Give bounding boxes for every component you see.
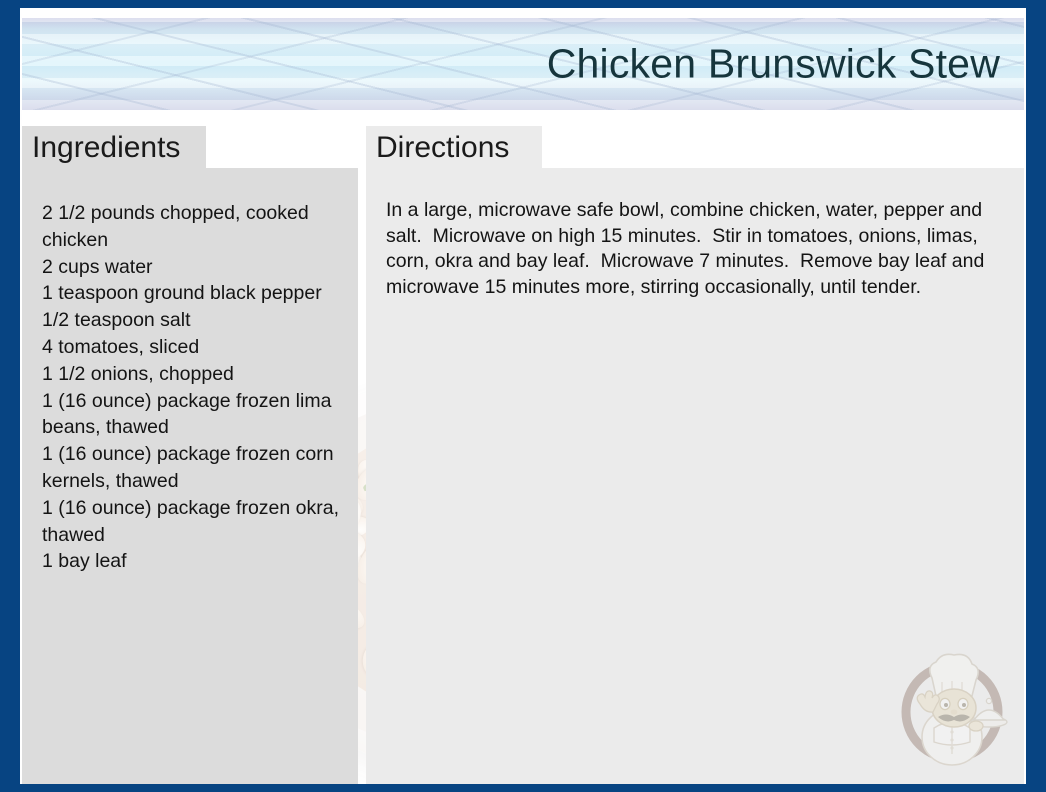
directions-heading: Directions <box>376 131 509 165</box>
ingredient-item: 1/2 teaspoon salt <box>42 307 362 334</box>
ingredient-item: 1 bay leaf <box>42 548 362 575</box>
ingredient-item: 1 (16 ounce) package frozen lima beans, … <box>42 388 362 442</box>
ingredients-heading: Ingredients <box>32 131 180 165</box>
recipe-card: Chicken Brunswick Stew Ingredients Direc… <box>0 0 1046 792</box>
ingredient-item: 1 (16 ounce) package frozen corn kernels… <box>42 441 362 495</box>
ingredients-section-tab: Ingredients <box>22 126 206 170</box>
ingredient-item: 1 (16 ounce) package frozen okra, thawed <box>42 495 362 549</box>
ingredients-list: 2 1/2 pounds chopped, cooked chicken2 cu… <box>42 200 362 575</box>
ingredient-item: 1 1/2 onions, chopped <box>42 361 362 388</box>
page-title: Chicken Brunswick Stew <box>547 41 1000 88</box>
directions-text: In a large, microwave safe bowl, combine… <box>386 198 1022 300</box>
header-banner: Chicken Brunswick Stew <box>22 18 1024 110</box>
card-inner-surface: Chicken Brunswick Stew Ingredients Direc… <box>20 8 1026 784</box>
ingredient-item: 2 cups water <box>42 254 362 281</box>
ingredient-item: 1 teaspoon ground black pepper <box>42 280 362 307</box>
ingredient-item: 4 tomatoes, sliced <box>42 334 362 361</box>
ingredient-item: 2 1/2 pounds chopped, cooked chicken <box>42 200 362 254</box>
directions-section-tab: Directions <box>366 126 542 170</box>
